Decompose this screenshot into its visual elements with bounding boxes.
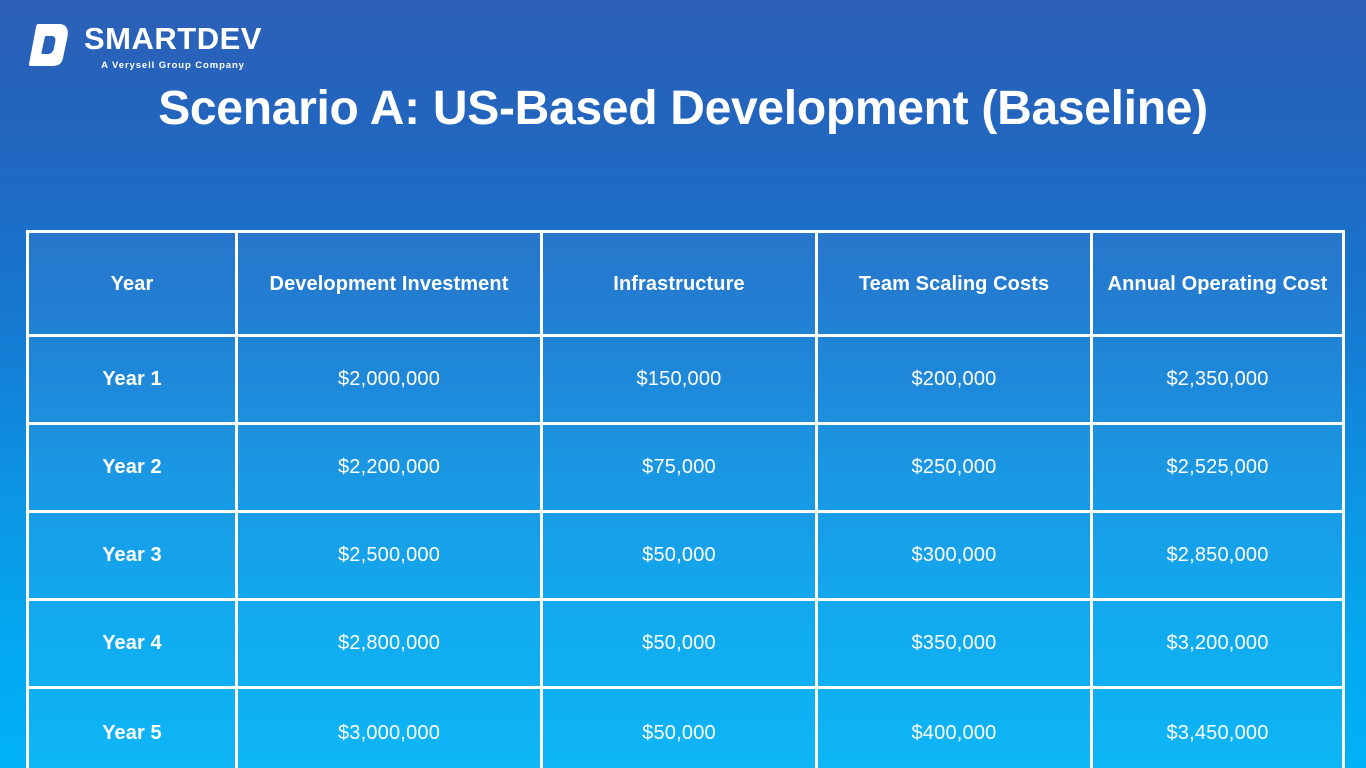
cell-infrastructure: $50,000 — [543, 513, 818, 601]
table-header: Year Development Investment Infrastructu… — [29, 233, 1342, 337]
cell-team-scaling-costs: $300,000 — [818, 513, 1093, 601]
cell-team-scaling-costs: $400,000 — [818, 689, 1093, 768]
cell-development-investment: $2,000,000 — [238, 337, 543, 425]
brand-tagline: A Verysell Group Company — [101, 60, 245, 71]
table-row: Year 1 $2,000,000 $150,000 $200,000 $2,3… — [29, 337, 1342, 425]
smartdev-d-mark-icon — [28, 22, 70, 68]
table-body: Year 1 $2,000,000 $150,000 $200,000 $2,3… — [29, 337, 1342, 768]
column-header-development-investment: Development Investment — [238, 233, 543, 337]
cell-year: Year 3 — [29, 513, 238, 601]
cost-table: Year Development Investment Infrastructu… — [26, 230, 1345, 768]
cell-year: Year 4 — [29, 601, 238, 689]
cell-infrastructure: $50,000 — [543, 689, 818, 768]
column-header-infrastructure: Infrastructure — [543, 233, 818, 337]
page-title: Scenario A: US-Based Development (Baseli… — [0, 80, 1366, 139]
cell-annual-operating-cost: $3,200,000 — [1093, 601, 1342, 689]
cell-infrastructure: $75,000 — [543, 425, 818, 513]
cell-annual-operating-cost: $2,350,000 — [1093, 337, 1342, 425]
cell-team-scaling-costs: $350,000 — [818, 601, 1093, 689]
table-row: Year 4 $2,800,000 $50,000 $350,000 $3,20… — [29, 601, 1342, 689]
cell-development-investment: $2,200,000 — [238, 425, 543, 513]
cell-development-investment: $3,000,000 — [238, 689, 543, 768]
cell-year: Year 5 — [29, 689, 238, 768]
table-row: Year 2 $2,200,000 $75,000 $250,000 $2,52… — [29, 425, 1342, 513]
cell-annual-operating-cost: $2,850,000 — [1093, 513, 1342, 601]
column-header-year: Year — [29, 233, 238, 337]
table-row: Year 3 $2,500,000 $50,000 $300,000 $2,85… — [29, 513, 1342, 601]
cell-development-investment: $2,500,000 — [238, 513, 543, 601]
brand-logo: SMARTDEV A Verysell Group Company — [28, 22, 262, 71]
cell-year: Year 1 — [29, 337, 238, 425]
column-header-team-scaling-costs: Team Scaling Costs — [818, 233, 1093, 337]
brand-wordmark: SMARTDEV — [84, 23, 262, 54]
cell-infrastructure: $150,000 — [543, 337, 818, 425]
table-header-row: Year Development Investment Infrastructu… — [29, 233, 1342, 337]
cell-infrastructure: $50,000 — [543, 601, 818, 689]
cell-development-investment: $2,800,000 — [238, 601, 543, 689]
column-header-annual-operating-cost: Annual Operating Cost — [1093, 233, 1342, 337]
cell-team-scaling-costs: $200,000 — [818, 337, 1093, 425]
cost-table-container: Year Development Investment Infrastructu… — [26, 230, 1339, 748]
cell-team-scaling-costs: $250,000 — [818, 425, 1093, 513]
cell-year: Year 2 — [29, 425, 238, 513]
cell-annual-operating-cost: $3,450,000 — [1093, 689, 1342, 768]
table-row: Year 5 $3,000,000 $50,000 $400,000 $3,45… — [29, 689, 1342, 768]
cell-annual-operating-cost: $2,525,000 — [1093, 425, 1342, 513]
